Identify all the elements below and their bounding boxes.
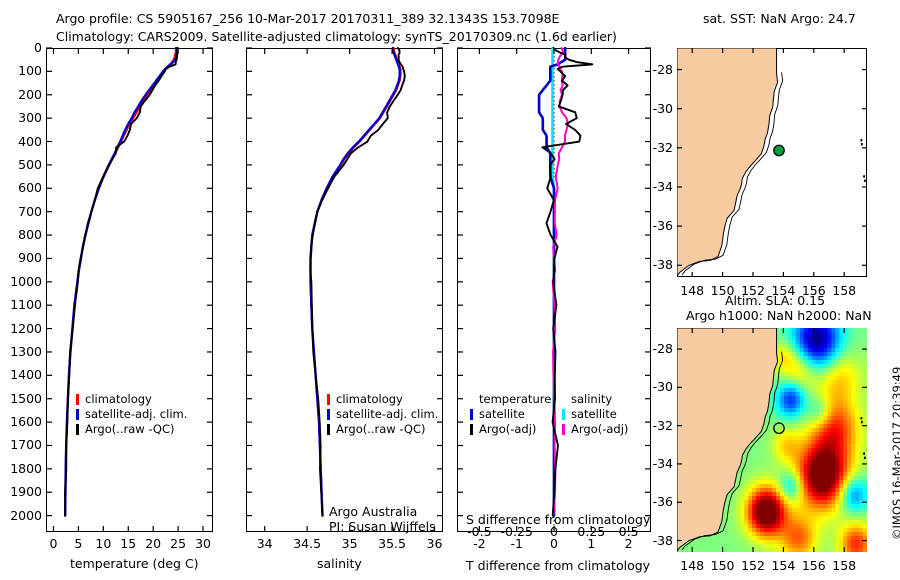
sla-grid-cell	[863, 396, 868, 401]
sla-grid-cell	[851, 520, 856, 525]
sla-grid-cell	[816, 404, 821, 409]
sla-grid-cell	[808, 416, 813, 421]
sla-grid-cell	[816, 412, 821, 417]
sla-grid-cell	[851, 372, 856, 377]
sla-grid-cell	[808, 368, 813, 373]
sla-grid-cell	[804, 400, 809, 405]
sla-grid-cell	[796, 344, 801, 349]
sla-grid-cell	[859, 364, 864, 369]
sla-grid-cell	[863, 476, 868, 481]
sla-grid-cell	[808, 460, 813, 465]
sla-grid-cell	[740, 516, 745, 521]
island-speck	[861, 143, 863, 145]
sla-grid-cell	[831, 392, 836, 397]
sla-grid-cell	[843, 512, 848, 517]
sla-grid-cell	[780, 412, 785, 417]
sla-grid-cell	[816, 456, 821, 461]
depth-tick-label: 100	[0, 63, 42, 78]
sla-grid-cell	[756, 444, 761, 449]
sla-grid-cell	[816, 376, 821, 381]
sla-grid-cell	[855, 440, 860, 445]
sla-grid-cell	[784, 380, 789, 385]
sla-grid-cell	[804, 328, 809, 333]
sla-grid-cell	[839, 528, 844, 533]
sla-grid-cell	[847, 488, 852, 493]
sla-grid-cell	[784, 536, 789, 541]
sla-grid-cell	[859, 484, 864, 489]
sla-grid-cell	[768, 452, 773, 457]
sla-grid-cell	[843, 480, 848, 485]
sla-grid-cell	[847, 408, 852, 413]
sla-grid-cell	[855, 504, 860, 509]
sla-grid-cell	[804, 548, 809, 553]
salinity-satadj-line	[311, 48, 400, 516]
sla-grid-cell	[827, 516, 832, 521]
sla-grid-cell	[812, 464, 817, 469]
sla-grid-cell	[784, 392, 789, 397]
map-sst-plot	[677, 48, 867, 277]
sla-grid-cell	[792, 404, 797, 409]
sla-grid-cell	[792, 464, 797, 469]
sla-grid-cell	[851, 516, 856, 521]
sla-grid-cell	[831, 452, 836, 457]
sla-grid-cell	[863, 508, 868, 513]
sla-grid-cell	[823, 440, 828, 445]
sla-grid-cell	[764, 536, 769, 541]
sla-grid-cell	[816, 384, 821, 389]
sla-grid-cell	[705, 536, 710, 541]
sla-grid-cell	[808, 352, 813, 357]
sla-grid-cell	[820, 412, 825, 417]
salinity-tick-label: 36	[417, 536, 453, 551]
sla-grid-cell	[740, 488, 745, 493]
sla-grid-cell	[800, 368, 805, 373]
legend-label: satellite-adj. clim.	[336, 407, 438, 421]
sla-grid-cell	[851, 540, 856, 545]
sla-grid-cell	[768, 460, 773, 465]
sla-grid-cell	[808, 500, 813, 505]
sla-grid-cell	[788, 436, 793, 441]
difference-xlabel-bottom: T difference from climatology	[466, 558, 650, 573]
sla-grid-cell	[831, 548, 836, 553]
sla-grid-cell	[792, 516, 797, 521]
sla-grid-cell	[820, 536, 825, 541]
sla-grid-cell	[827, 364, 832, 369]
sla-grid-cell	[764, 532, 769, 537]
sla-grid-cell	[835, 448, 840, 453]
sla-grid-cell	[725, 512, 730, 517]
sla-grid-cell	[725, 536, 730, 541]
legend-color-swatch	[76, 394, 79, 405]
sla-grid-cell	[800, 500, 805, 505]
map-lat-tick-label: -38	[645, 257, 673, 272]
sla-grid-cell	[812, 532, 817, 537]
sla-grid-cell	[859, 476, 864, 481]
sla-grid-cell	[851, 496, 856, 501]
sla-grid-cell	[768, 512, 773, 517]
sla-grid-cell	[760, 492, 765, 497]
sla-grid-cell	[835, 420, 840, 425]
sla-grid-cell	[780, 444, 785, 449]
sla-grid-cell	[752, 484, 757, 489]
sla-grid-cell	[823, 344, 828, 349]
sla-grid-cell	[796, 356, 801, 361]
sla-grid-cell	[855, 384, 860, 389]
sla-grid-cell	[823, 524, 828, 529]
sla-grid-cell	[820, 540, 825, 545]
sla-grid-cell	[760, 452, 765, 457]
sla-grid-cell	[816, 520, 821, 525]
sla-grid-cell	[831, 456, 836, 461]
sla-grid-cell	[820, 512, 825, 517]
sla-grid-cell	[847, 544, 852, 549]
sla-grid-cell	[823, 376, 828, 381]
sla-grid-cell	[835, 532, 840, 537]
sla-grid-cell	[788, 428, 793, 433]
sla-grid-cell	[756, 512, 761, 517]
sla-grid-cell	[788, 472, 793, 477]
sla-grid-cell	[788, 456, 793, 461]
sla-grid-cell	[843, 520, 848, 525]
sla-grid-cell	[796, 540, 801, 545]
sla-grid-cell	[812, 428, 817, 433]
sla-grid-cell	[808, 384, 813, 389]
sla-grid-cell	[780, 464, 785, 469]
sla-grid-cell	[792, 336, 797, 341]
sla-grid-cell	[788, 396, 793, 401]
sla-grid-cell	[796, 464, 801, 469]
sla-grid-cell	[752, 524, 757, 529]
sla-grid-cell	[816, 480, 821, 485]
sla-grid-cell	[816, 424, 821, 429]
sla-grid-cell	[756, 516, 761, 521]
sla-grid-cell	[760, 548, 765, 553]
sla-grid-cell	[831, 484, 836, 489]
sla-grid-cell	[816, 524, 821, 529]
sla-grid-cell	[835, 472, 840, 477]
legend-label: satellite	[571, 407, 617, 421]
sla-grid-cell	[843, 336, 848, 341]
sla-grid-cell	[780, 376, 785, 381]
sla-grid-cell	[855, 488, 860, 493]
sla-grid-cell	[839, 524, 844, 529]
sla-grid-cell	[839, 348, 844, 353]
sla-grid-cell	[784, 412, 789, 417]
sla-grid-cell	[839, 344, 844, 349]
legend-label: satellite	[479, 407, 525, 421]
sla-grid-cell	[784, 548, 789, 553]
sla-grid-cell	[855, 432, 860, 437]
sla-grid-cell	[800, 336, 805, 341]
sla-grid-cell	[835, 508, 840, 513]
sla-grid-cell	[847, 496, 852, 501]
sla-grid-cell	[784, 408, 789, 413]
sla-grid-cell	[792, 360, 797, 365]
sla-grid-cell	[760, 464, 765, 469]
sla-grid-cell	[721, 536, 726, 541]
sla-grid-cell	[831, 404, 836, 409]
legend-label: climatology	[336, 392, 403, 406]
sla-grid-cell	[820, 352, 825, 357]
sla-grid-cell	[851, 436, 856, 441]
salinity-tick-label: 34.5	[289, 536, 325, 551]
sla-grid-cell	[823, 452, 828, 457]
sla-grid-cell	[816, 504, 821, 509]
sla-grid-cell	[812, 444, 817, 449]
sla-grid-cell	[740, 508, 745, 513]
sla-grid-cell	[752, 448, 757, 453]
sla-grid-cell	[764, 516, 769, 521]
sla-grid-cell	[827, 432, 832, 437]
sla-grid-cell	[736, 532, 741, 537]
sla-grid-cell	[788, 348, 793, 353]
sla-grid-cell	[847, 484, 852, 489]
sla-grid-cell	[772, 464, 777, 469]
sla-grid-cell	[863, 444, 868, 449]
sla-grid-cell	[752, 480, 757, 485]
sla-grid-cell	[843, 452, 848, 457]
sla-grid-cell	[816, 400, 821, 405]
sla-grid-cell	[859, 452, 864, 457]
sla-grid-cell	[792, 376, 797, 381]
map-lon-tick-label: 152	[739, 558, 767, 573]
sla-grid-cell	[744, 492, 749, 497]
sla-grid-cell	[808, 360, 813, 365]
sla-grid-cell	[796, 512, 801, 517]
sla-grid-cell	[863, 472, 868, 477]
sla-grid-cell	[812, 424, 817, 429]
sla-grid-cell	[831, 380, 836, 385]
panel-difference-plot	[457, 48, 651, 532]
sla-grid-cell	[820, 348, 825, 353]
sla-grid-cell	[835, 372, 840, 377]
sla-grid-cell	[859, 448, 864, 453]
sla-grid-cell	[823, 512, 828, 517]
sla-grid-cell	[820, 444, 825, 449]
sla-grid-cell	[772, 524, 777, 529]
sla-grid-cell	[776, 468, 781, 473]
sla-grid-cell	[839, 400, 844, 405]
sla-grid-cell	[780, 520, 785, 525]
sla-grid-cell	[851, 336, 856, 341]
sla-grid-cell	[839, 464, 844, 469]
sla-grid-cell	[827, 332, 832, 337]
sla-grid-cell	[800, 440, 805, 445]
sla-grid-cell	[800, 524, 805, 529]
sla-grid-cell	[831, 460, 836, 465]
sla-grid-cell	[859, 424, 864, 429]
sla-grid-cell	[831, 420, 836, 425]
sla-grid-cell	[732, 508, 737, 513]
sla-grid-cell	[859, 408, 864, 413]
sla-grid-cell	[800, 384, 805, 389]
sla-grid-cell	[827, 464, 832, 469]
sla-grid-cell	[736, 544, 741, 549]
sla-grid-cell	[772, 480, 777, 485]
sla-grid-cell	[823, 544, 828, 549]
sla-grid-cell	[831, 540, 836, 545]
sla-grid-cell	[756, 504, 761, 509]
sla-grid-cell	[808, 488, 813, 493]
sla-grid-cell	[740, 536, 745, 541]
sla-grid-cell	[827, 468, 832, 473]
sla-grid-cell	[736, 500, 741, 505]
sla-grid-cell	[820, 392, 825, 397]
sla-grid-cell	[816, 484, 821, 489]
sla-grid-cell	[859, 464, 864, 469]
sla-grid-cell	[851, 448, 856, 453]
sla-grid-cell	[800, 456, 805, 461]
map-sla-plot	[677, 328, 867, 552]
sla-grid-cell	[760, 448, 765, 453]
sla-grid-cell	[847, 492, 852, 497]
sla-grid-cell	[812, 472, 817, 477]
sla-grid-cell	[823, 360, 828, 365]
sla-grid-cell	[768, 516, 773, 521]
sla-grid-cell	[792, 420, 797, 425]
sla-grid-cell	[855, 548, 860, 553]
sla-grid-cell	[820, 488, 825, 493]
sla-grid-cell	[816, 408, 821, 413]
sla-grid-cell	[800, 408, 805, 413]
sla-grid-cell	[827, 408, 832, 413]
sla-grid-cell	[839, 412, 844, 417]
sla-grid-cell	[728, 540, 733, 545]
sla-grid-cell	[851, 416, 856, 421]
sla-grid-cell	[835, 348, 840, 353]
sla-grid-cell	[788, 344, 793, 349]
sla-grid-cell	[784, 436, 789, 441]
sla-grid-cell	[784, 484, 789, 489]
sla-grid-cell	[768, 504, 773, 509]
sla-grid-cell	[863, 404, 868, 409]
sla-grid-cell	[780, 416, 785, 421]
sla-grid-cell	[843, 472, 848, 477]
sla-grid-cell	[705, 548, 710, 553]
sla-grid-cell	[740, 540, 745, 545]
sla-grid-cell	[800, 360, 805, 365]
sla-grid-cell	[764, 500, 769, 505]
sla-grid-cell	[788, 488, 793, 493]
sla-grid-cell	[780, 392, 785, 397]
sla-grid-cell	[760, 456, 765, 461]
sla-grid-cell	[859, 436, 864, 441]
sla-grid-cell	[768, 548, 773, 553]
sla-grid-cell	[843, 404, 848, 409]
sla-grid-cell	[784, 432, 789, 437]
sla-grid-cell	[851, 404, 856, 409]
sla-grid-cell	[768, 480, 773, 485]
sla-grid-cell	[816, 476, 821, 481]
sla-grid-cell	[800, 496, 805, 501]
sla-grid-cell	[823, 476, 828, 481]
sla-grid-cell	[851, 456, 856, 461]
sla-grid-cell	[804, 392, 809, 397]
sla-grid-cell	[835, 512, 840, 517]
sla-grid-cell	[820, 372, 825, 377]
sla-grid-cell	[776, 452, 781, 457]
sla-grid-cell	[827, 380, 832, 385]
sla-grid-cell	[816, 532, 821, 537]
sla-grid-cell	[839, 472, 844, 477]
sla-grid-cell	[800, 436, 805, 441]
sla-grid-cell	[792, 392, 797, 397]
island-speck	[863, 175, 865, 177]
sla-grid-cell	[792, 408, 797, 413]
sla-grid-cell	[768, 484, 773, 489]
sla-grid-cell	[812, 356, 817, 361]
sla-grid-cell	[839, 508, 844, 513]
depth-tick-label: 700	[0, 204, 42, 219]
sla-grid-cell	[812, 396, 817, 401]
sla-grid-cell	[776, 544, 781, 549]
sla-grid-cell	[800, 540, 805, 545]
sla-grid-cell	[804, 408, 809, 413]
sla-grid-cell	[816, 440, 821, 445]
sla-grid-cell	[820, 500, 825, 505]
sla-grid-cell	[808, 448, 813, 453]
sla-grid-cell	[847, 508, 852, 513]
sla-grid-cell	[855, 336, 860, 341]
sla-grid-cell	[851, 356, 856, 361]
sla-grid-cell	[827, 348, 832, 353]
sla-grid-cell	[804, 484, 809, 489]
sla-grid-cell	[788, 372, 793, 377]
sla-grid-cell	[740, 480, 745, 485]
sla-grid-cell	[748, 520, 753, 525]
sla-grid-cell	[792, 536, 797, 541]
depth-tick-label: 2000	[0, 508, 42, 523]
sla-map-title-1: Altim. SLA: 0.15	[725, 293, 825, 308]
sla-grid-cell	[847, 332, 852, 337]
sla-grid-cell	[784, 388, 789, 393]
sla-grid-cell	[808, 468, 813, 473]
sla-grid-cell	[827, 520, 832, 525]
sla-grid-cell	[784, 356, 789, 361]
sla-grid-cell	[768, 464, 773, 469]
sla-grid-cell	[736, 528, 741, 533]
sla-grid-cell	[820, 448, 825, 453]
sla-grid-cell	[748, 508, 753, 513]
sla-grid-cell	[812, 388, 817, 393]
sla-grid-cell	[784, 376, 789, 381]
sla-grid-cell	[776, 500, 781, 505]
sla-grid-cell	[796, 372, 801, 377]
sla-grid-cell	[752, 520, 757, 525]
sla-grid-cell	[816, 500, 821, 505]
sla-grid-cell	[847, 532, 852, 537]
sla-grid-cell	[804, 416, 809, 421]
sla-grid-cell	[843, 348, 848, 353]
sla-grid-cell	[776, 392, 781, 397]
sla-grid-cell	[744, 520, 749, 525]
sla-grid-cell	[863, 364, 868, 369]
sla-grid-cell	[748, 452, 753, 457]
sla-grid-cell	[839, 460, 844, 465]
sla-grid-cell	[788, 536, 793, 541]
sla-grid-cell	[788, 532, 793, 537]
sla-grid-cell	[851, 460, 856, 465]
sla-grid-cell	[756, 472, 761, 477]
sla-grid-cell	[808, 452, 813, 457]
sla-grid-cell	[796, 496, 801, 501]
sla-grid-cell	[847, 444, 852, 449]
sla-grid-cell	[835, 332, 840, 337]
sla-grid-cell	[776, 444, 781, 449]
sla-grid-cell	[816, 464, 821, 469]
sla-grid-cell	[756, 508, 761, 513]
sla-grid-cell	[784, 340, 789, 345]
